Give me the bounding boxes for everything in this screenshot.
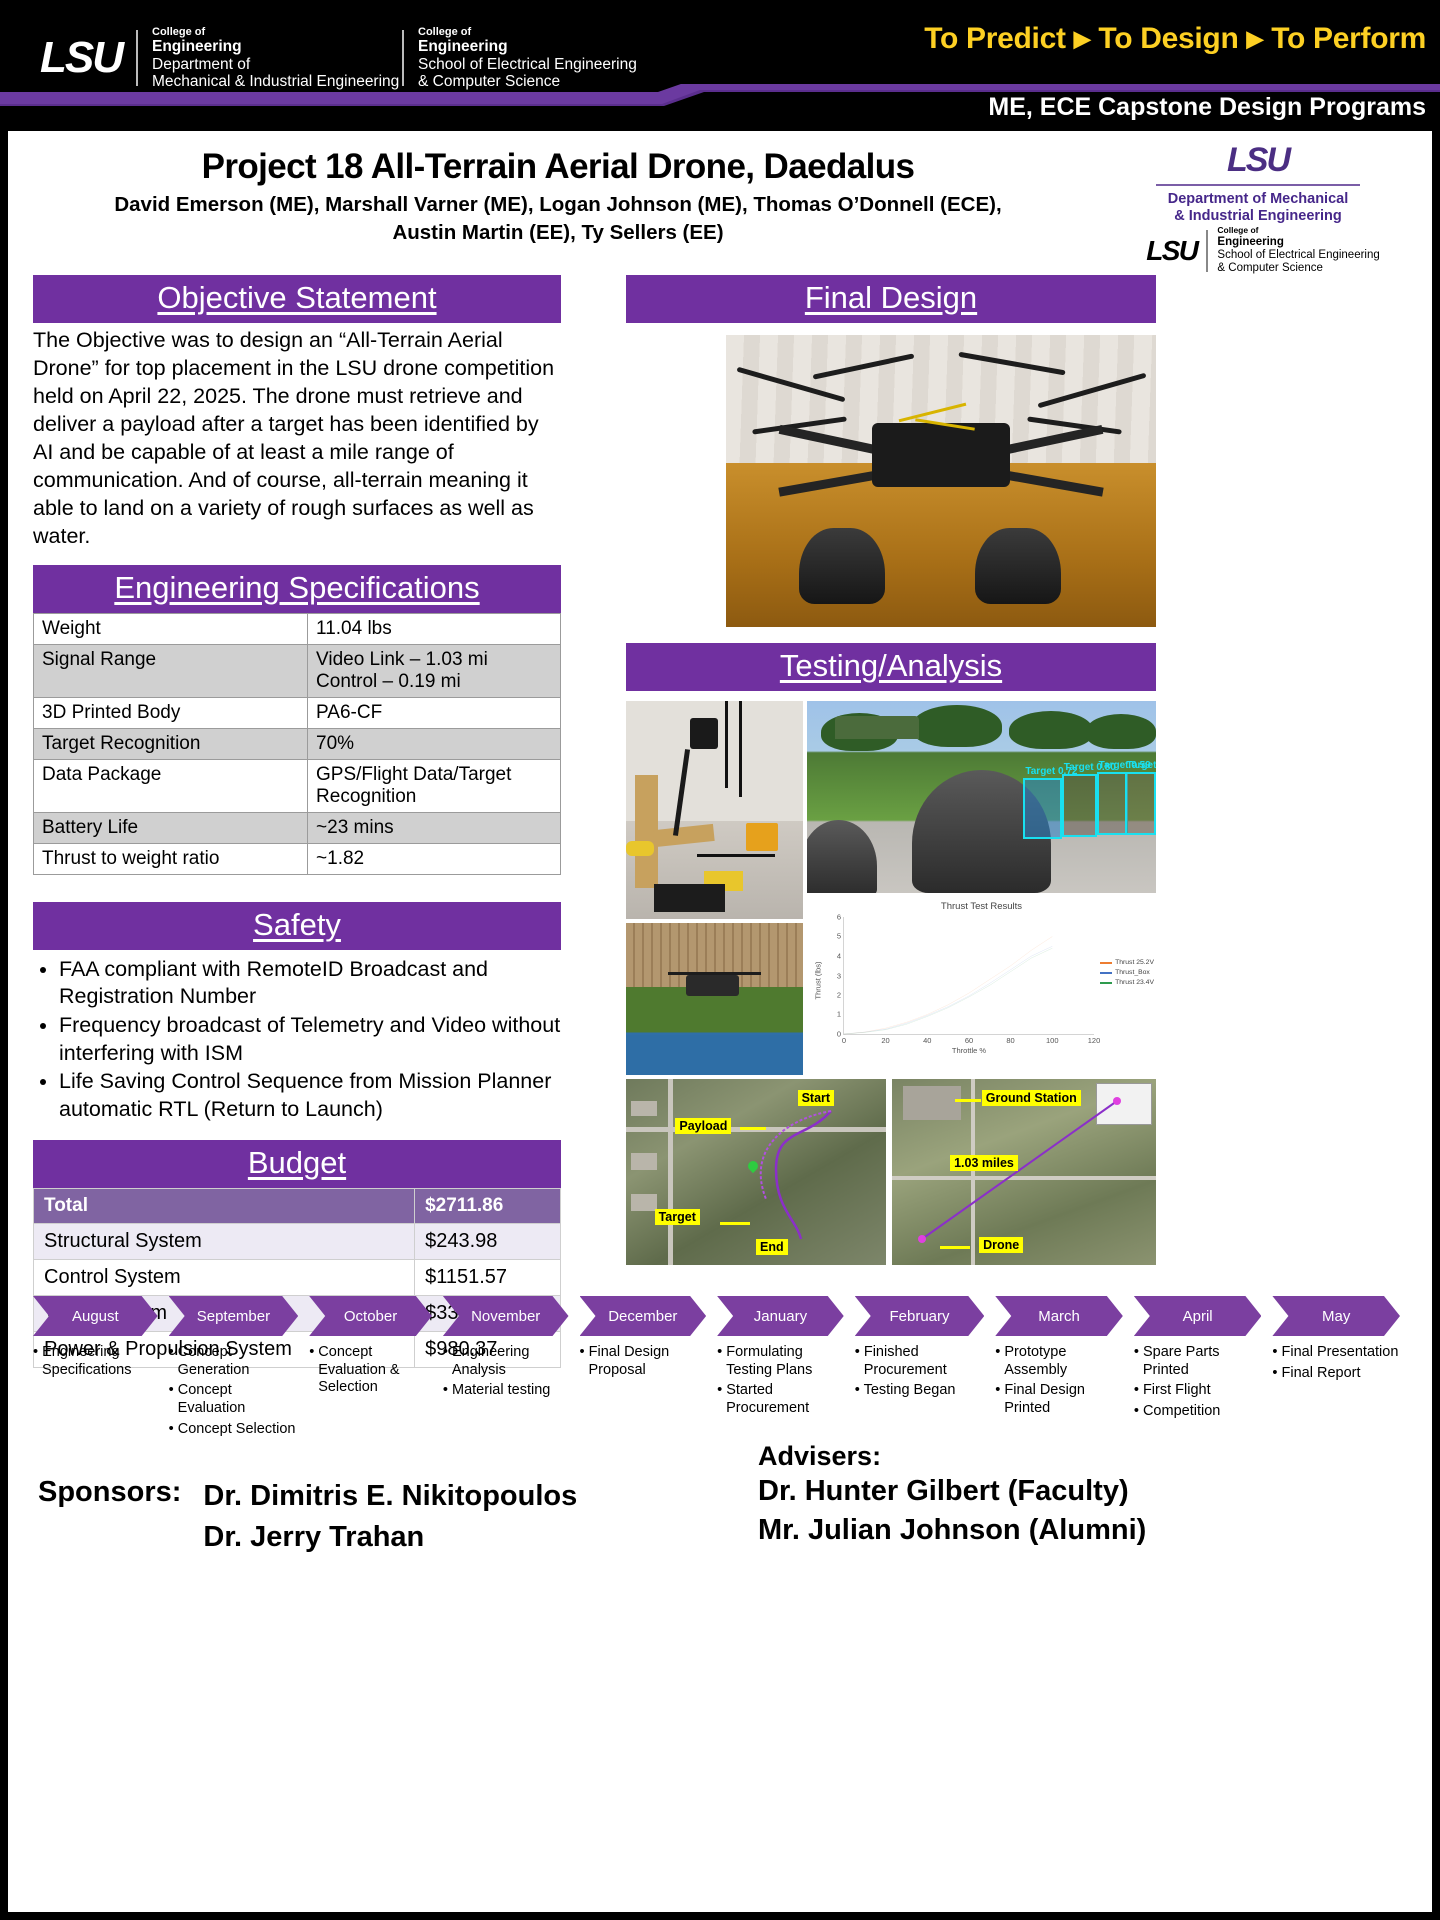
- timeline-chevron-april: April: [1134, 1296, 1262, 1336]
- table-row: Battery Life ~23 mins: [34, 812, 561, 843]
- list-item: Formulating Testing Plans: [717, 1344, 845, 1379]
- objective-heading: Objective Statement: [157, 280, 436, 315]
- tagline: To Predict ▶ To Design ▶ To Perform: [924, 22, 1426, 56]
- map-annotation-start: Start: [798, 1090, 834, 1106]
- project-timeline: AugustSeptemberOctoberNovemberDecemberJa…: [33, 1296, 1411, 1441]
- engineering-label: Engineering: [418, 38, 637, 55]
- tagline-design: To Design: [1098, 22, 1238, 55]
- x-tick: 80: [1006, 1034, 1014, 1045]
- timeline-chevron-december: December: [580, 1296, 707, 1336]
- map-annotation-ground-station: Ground Station: [982, 1090, 1081, 1106]
- thrust-test-photo: [626, 701, 803, 919]
- spec-value: GPS/Flight Data/Target Recognition: [308, 759, 561, 812]
- ece-school-logo: LSU College of Engineering School of Ele…: [1128, 226, 1398, 275]
- computer-science-label: & Computer Science: [1217, 262, 1379, 275]
- x-tick: 120: [1088, 1034, 1101, 1045]
- table-row: Structural System $243.98: [34, 1223, 561, 1259]
- legend-entry: Thrust_Box: [1100, 969, 1154, 976]
- ece-logo-text: College of Engineering School of Electri…: [1217, 226, 1379, 275]
- detection-label: Target 0.44: [1127, 760, 1156, 771]
- list-item: Concept Evaluation & Selection: [309, 1344, 433, 1397]
- map-annotation-drone: Drone: [979, 1237, 1023, 1253]
- timeline-chevron-january: January: [717, 1296, 844, 1336]
- college-of-label: College of: [1217, 226, 1379, 236]
- milestone-list: Concept Evaluation & Selection: [309, 1344, 433, 1397]
- thrust-chart: Thrust Test Results 0 1 2 3 4 5 6 0 20: [807, 897, 1156, 1061]
- milestone-column-march: Prototype AssemblyFinal Design Printed: [995, 1344, 1134, 1441]
- spec-key: 3D Printed Body: [34, 697, 308, 728]
- lsu-wordmark-icon: LSU: [1128, 141, 1388, 180]
- tree: [912, 705, 1003, 747]
- spec-value: Video Link – 1.03 mi Control – 0.19 mi: [308, 644, 561, 697]
- pontoon-float: [807, 820, 877, 893]
- milestone-list: Spare Parts PrintedFirst FlightCompetiti…: [1134, 1344, 1263, 1421]
- milestone-column-january: Formulating Testing PlansStarted Procure…: [717, 1344, 855, 1441]
- signal-range-map: Ground Station 1.03 miles Drone: [892, 1079, 1156, 1265]
- spec-value: PA6-CF: [308, 697, 561, 728]
- y-tick: 1: [837, 1010, 844, 1019]
- milestone-list: Concept GenerationConcept EvaluationConc…: [169, 1344, 300, 1438]
- final-design-photo-wrap: [626, 323, 1156, 627]
- specs-section-header: Engineering Specifications: [33, 565, 561, 613]
- pontoon-float: [799, 528, 885, 604]
- chart-title: Thrust Test Results: [807, 897, 1156, 912]
- left-column: Objective Statement The Objective was to…: [33, 275, 561, 1368]
- table-row-total: Total $2711.86: [34, 1188, 561, 1223]
- engineering-label: Engineering: [1217, 236, 1379, 249]
- legend-entry: Thrust 25.2V: [1100, 959, 1154, 966]
- engineering-specifications-table: Weight 11.04 lbs Signal Range Video Link…: [33, 613, 561, 875]
- arrow-line: [740, 1127, 766, 1130]
- list-item: Frequency broadcast of Telemetry and Vid…: [59, 1012, 561, 1067]
- me-lockup-text: College of Engineering Department of Mec…: [152, 26, 399, 90]
- budget-total-label: Total: [34, 1188, 415, 1223]
- spec-value: 11.04 lbs: [308, 613, 561, 644]
- yard-flight-photo: [626, 923, 803, 1075]
- sponsor-name: Dr. Dimitris E. Nikitopoulos: [203, 1476, 577, 1517]
- author-line-2: Austin Martin (EE), Ty Sellers (EE): [28, 219, 1088, 247]
- arrow-line: [720, 1222, 750, 1225]
- milestone-list: Final PresentationFinal Report: [1272, 1344, 1401, 1382]
- y-tick: 6: [837, 913, 844, 922]
- chart-legend: Thrust 25.2V Thrust_Box Thrust 23.4V: [1100, 959, 1154, 989]
- backyard-photo: [626, 923, 803, 1075]
- legend-label: Thrust 23.4V: [1115, 979, 1154, 986]
- capstone-program-title: ME, ECE Capstone Design Programs: [988, 93, 1426, 122]
- detection-box: Target 0.59: [1097, 772, 1128, 835]
- sponsors-block: Sponsors: Dr. Dimitris E. Nikitopoulos D…: [38, 1476, 577, 1558]
- satellite-map: Ground Station 1.03 miles Drone: [892, 1079, 1156, 1265]
- budget-section-header: Budget: [33, 1140, 561, 1188]
- month-label: March: [1038, 1308, 1080, 1325]
- final-design-heading: Final Design: [805, 280, 977, 315]
- ai-detection-photo: Target 0.72 Target 0.80 Target 0.59 Targ…: [807, 701, 1156, 893]
- battery-pack: [654, 884, 725, 912]
- wood-beam: [654, 824, 716, 848]
- list-item: Finished Procurement: [855, 1344, 986, 1379]
- timeline-chevron-november: November: [443, 1296, 569, 1336]
- y-tick: 3: [837, 971, 844, 980]
- timeline-chevron-october: October: [309, 1296, 432, 1336]
- list-item: Spare Parts Printed: [1134, 1344, 1263, 1379]
- poster-root: LSU College of Engineering Department of…: [0, 0, 1440, 1920]
- cable: [697, 854, 775, 857]
- list-item: Testing Began: [855, 1382, 986, 1400]
- flight-path-map: Start Payload Target End: [626, 1079, 886, 1265]
- spec-key: Data Package: [34, 759, 308, 812]
- milestone-column-september: Concept GenerationConcept EvaluationConc…: [169, 1344, 310, 1441]
- map-annotation-payload: Payload: [675, 1118, 731, 1134]
- tree: [1086, 714, 1156, 749]
- map-annotation-end: End: [756, 1239, 788, 1255]
- sponsor-name: Dr. Jerry Trahan: [203, 1517, 577, 1558]
- budget-key: Structural System: [34, 1223, 415, 1259]
- month-label: January: [754, 1308, 807, 1325]
- power-meter: [746, 823, 778, 851]
- list-item: Material testing: [443, 1382, 570, 1400]
- timeline-chevron-march: March: [995, 1296, 1123, 1336]
- me-department-lockup: LSU College of Engineering Department of…: [40, 26, 399, 90]
- range-line: [892, 1079, 1156, 1265]
- milestone-list: Prototype AssemblyFinal Design Printed: [995, 1344, 1124, 1418]
- safety-heading: Safety: [253, 907, 341, 942]
- x-tick: 40: [923, 1034, 931, 1045]
- chart-canvas: Thrust Test Results 0 1 2 3 4 5 6 0 20: [807, 897, 1156, 1061]
- me-caption-line-2: & Industrial Engineering: [1128, 208, 1388, 225]
- budget-total-value: $2711.86: [415, 1188, 561, 1223]
- lsu-wordmark-icon: LSU: [40, 33, 122, 83]
- map-annotation-target: Target: [655, 1209, 700, 1225]
- legend-label: Thrust_Box: [1115, 969, 1150, 976]
- milestone-column-may: Final PresentationFinal Report: [1272, 1344, 1411, 1441]
- month-label: May: [1322, 1308, 1350, 1325]
- spec-key: Thrust to weight ratio: [34, 843, 308, 874]
- mission-map: Start Payload Target End: [626, 1079, 886, 1265]
- timeline-chevron-may: May: [1272, 1296, 1400, 1336]
- spec-key: Target Recognition: [34, 728, 308, 759]
- list-item: Started Procurement: [717, 1382, 845, 1417]
- x-tick: 0: [842, 1034, 846, 1045]
- detection-box: Target 0.44: [1125, 772, 1156, 835]
- y-tick: 5: [837, 932, 844, 941]
- table-row: Control System $1151.57: [34, 1259, 561, 1295]
- series-line: [844, 937, 1052, 1035]
- x-tick: 100: [1046, 1034, 1059, 1045]
- college-of-label: College of: [152, 26, 399, 38]
- timeline-chevron-august: August: [33, 1296, 158, 1336]
- pontoon-float: [975, 528, 1061, 604]
- milestone-list: Engineering Specifications: [33, 1344, 159, 1379]
- advisers-block: Advisers: Dr. Hunter Gilbert (Faculty) M…: [758, 1441, 1146, 1549]
- milestone-column-april: Spare Parts PrintedFirst FlightCompetiti…: [1134, 1344, 1273, 1441]
- map-annotation-distance: 1.03 miles: [950, 1155, 1018, 1171]
- drone-center-body: [872, 423, 1010, 487]
- blue-tarp: [626, 1035, 803, 1075]
- spec-key: Battery Life: [34, 812, 308, 843]
- list-item: Competition: [1134, 1403, 1263, 1421]
- engineering-label: Engineering: [152, 38, 399, 55]
- safety-section-header: Safety: [33, 902, 561, 950]
- site-header: LSU College of Engineering Department of…: [0, 0, 1440, 132]
- flight-path-line: [626, 1079, 886, 1265]
- milestone-list: Final Design Proposal: [580, 1344, 708, 1379]
- list-item: Final Design Proposal: [580, 1344, 708, 1379]
- month-label: April: [1183, 1308, 1213, 1325]
- timeline-milestones: Engineering SpecificationsConcept Genera…: [33, 1344, 1411, 1441]
- tree: [1009, 711, 1093, 749]
- spec-key: Signal Range: [34, 644, 308, 697]
- me-caption-line-1: Department of Mechanical: [1128, 191, 1388, 208]
- budget-value: $243.98: [415, 1223, 561, 1259]
- detection-box: Target 0.72: [1023, 778, 1061, 839]
- plot-area: 0 1 2 3 4 5 6 0 20 40 60: [843, 917, 1094, 1035]
- triangle-right-icon: ▶: [1074, 26, 1091, 51]
- college-of-label: College of: [418, 26, 637, 38]
- author-list: David Emerson (ME), Marshall Varner (ME)…: [28, 191, 1088, 246]
- arrow-line: [940, 1246, 970, 1249]
- triangle-right-icon: ▶: [1247, 26, 1264, 51]
- divider: [402, 30, 404, 86]
- advisers-label: Advisers:: [758, 1441, 1146, 1472]
- spec-value: 70%: [308, 728, 561, 759]
- month-label: February: [889, 1308, 949, 1325]
- specs-heading: Engineering Specifications: [114, 570, 479, 605]
- final-design-section-header: Final Design: [626, 275, 1156, 323]
- divider: [136, 30, 138, 86]
- objective-section-header: Objective Statement: [33, 275, 561, 323]
- list-item: Prototype Assembly: [995, 1344, 1124, 1379]
- x-axis-label: Throttle %: [952, 1046, 986, 1055]
- sponsors-names: Dr. Dimitris E. Nikitopoulos Dr. Jerry T…: [203, 1476, 577, 1558]
- milestone-list: Formulating Testing PlansStarted Procure…: [717, 1344, 845, 1418]
- drone-photo: [726, 335, 1156, 627]
- budget-key: Control System: [34, 1259, 415, 1295]
- detection-box: Target 0.80: [1062, 774, 1097, 837]
- testing-photo-row: Target 0.72 Target 0.80 Target 0.59 Targ…: [626, 701, 1156, 1075]
- table-row: Target Recognition 70%: [34, 728, 561, 759]
- month-label: October: [344, 1308, 397, 1325]
- list-item: Concept Evaluation: [169, 1382, 300, 1417]
- ece-lockup-text: College of Engineering School of Electri…: [418, 26, 637, 90]
- y-axis-label: Thrust (lbs): [814, 961, 823, 999]
- arrow-line: [955, 1099, 981, 1102]
- list-item: Final Presentation: [1272, 1344, 1401, 1362]
- milestone-column-december: Final Design Proposal: [580, 1344, 718, 1441]
- milestone-list: Finished ProcurementTesting Began: [855, 1344, 986, 1400]
- tagline-perform: To Perform: [1271, 22, 1426, 55]
- milestone-column-november: Engineering AnalysisMaterial testing: [443, 1344, 580, 1441]
- school-electrical-label: School of Electrical Engineering: [1217, 249, 1379, 262]
- x-tick: 20: [881, 1034, 889, 1045]
- series-line: [844, 946, 1052, 1034]
- testing-section-header: Testing/Analysis: [626, 643, 1156, 691]
- lsu-wordmark-icon: LSU: [1146, 235, 1197, 267]
- table-row: Thrust to weight ratio ~1.82: [34, 843, 561, 874]
- list-item: FAA compliant with RemoteID Broadcast an…: [59, 956, 561, 1011]
- page-title: Project 18 All-Terrain Aerial Drone, Dae…: [28, 147, 1088, 187]
- list-item: First Flight: [1134, 1382, 1263, 1400]
- map-photo-row: Start Payload Target End: [626, 1079, 1156, 1265]
- milestone-column-august: Engineering Specifications: [33, 1344, 169, 1441]
- legend-entry: Thrust 23.4V: [1100, 979, 1154, 986]
- cable: [739, 701, 742, 797]
- series-line: [844, 948, 1052, 1034]
- pavilion-roof: [835, 716, 919, 739]
- y-tick: 2: [837, 990, 844, 999]
- author-line-1: David Emerson (ME), Marshall Varner (ME)…: [28, 191, 1088, 219]
- y-tick: 4: [837, 951, 844, 960]
- series-lines: [844, 917, 1094, 1034]
- park-field-photo: Target 0.72 Target 0.80 Target 0.59 Targ…: [807, 701, 1156, 893]
- lab-bench-photo: [626, 701, 803, 919]
- list-item: Final Design Printed: [995, 1382, 1124, 1417]
- tagline-predict: To Predict: [924, 22, 1065, 55]
- table-row: Data Package GPS/Flight Data/Target Reco…: [34, 759, 561, 812]
- list-item: Engineering Specifications: [33, 1344, 159, 1379]
- objective-text: The Objective was to design an “All-Terr…: [33, 323, 561, 551]
- propeller-blade: [668, 972, 760, 975]
- table-row: Weight 11.04 lbs: [34, 613, 561, 644]
- table-row: Signal Range Video Link – 1.03 mi Contro…: [34, 644, 561, 697]
- sponsors-label: Sponsors:: [38, 1476, 203, 1558]
- safety-bullet-list: FAA compliant with RemoteID Broadcast an…: [33, 950, 561, 1124]
- cable: [725, 701, 728, 788]
- milestone-column-february: Finished ProcurementTesting Began: [855, 1344, 996, 1441]
- legend-label: Thrust 25.2V: [1115, 959, 1154, 966]
- list-item: Engineering Analysis: [443, 1344, 570, 1379]
- adviser-name: Dr. Hunter Gilbert (Faculty): [758, 1472, 1146, 1511]
- spec-value: ~23 mins: [308, 812, 561, 843]
- school-electrical-label: School of Electrical Engineering: [418, 56, 637, 73]
- me-department-logo: LSU Department of Mechanical & Industria…: [1128, 141, 1388, 225]
- list-item: Life Saving Control Sequence from Missio…: [59, 1068, 561, 1123]
- yellow-cable: [626, 841, 654, 856]
- table-row: 3D Printed Body PA6-CF: [34, 697, 561, 728]
- spec-key: Weight: [34, 613, 308, 644]
- department-of-label: Department of: [152, 56, 399, 73]
- ece-school-lockup: College of Engineering School of Electri…: [402, 26, 637, 90]
- month-label: November: [471, 1308, 540, 1325]
- adviser-name: Mr. Julian Johnson (Alumni): [758, 1511, 1146, 1550]
- divider: [1156, 184, 1360, 186]
- month-label: August: [72, 1308, 119, 1325]
- list-item: Concept Selection: [169, 1421, 300, 1439]
- list-item: Final Report: [1272, 1365, 1401, 1383]
- milestone-list: Engineering AnalysisMaterial testing: [443, 1344, 570, 1400]
- timeline-month-chevrons: AugustSeptemberOctoberNovemberDecemberJa…: [33, 1296, 1411, 1336]
- list-item: Concept Generation: [169, 1344, 300, 1379]
- testing-heading: Testing/Analysis: [780, 648, 1002, 683]
- budget-value: $1151.57: [415, 1259, 561, 1295]
- x-tick: 60: [965, 1034, 973, 1045]
- right-column: Final Design: [626, 275, 1156, 1265]
- motor-block: [690, 718, 718, 749]
- divider: [1206, 230, 1208, 272]
- drone-silhouette: [686, 975, 739, 996]
- poster-body: Project 18 All-Terrain Aerial Drone, Dae…: [8, 131, 1432, 1912]
- timeline-chevron-february: February: [855, 1296, 985, 1336]
- budget-heading: Budget: [248, 1145, 346, 1180]
- timeline-chevron-september: September: [169, 1296, 299, 1336]
- spec-value: ~1.82: [308, 843, 561, 874]
- testing-left-stack: [626, 701, 803, 1075]
- month-label: September: [197, 1308, 270, 1325]
- month-label: December: [608, 1308, 677, 1325]
- milestone-column-october: Concept Evaluation & Selection: [309, 1344, 443, 1441]
- testing-right-stack: Target 0.72 Target 0.80 Target 0.59 Targ…: [807, 701, 1156, 1075]
